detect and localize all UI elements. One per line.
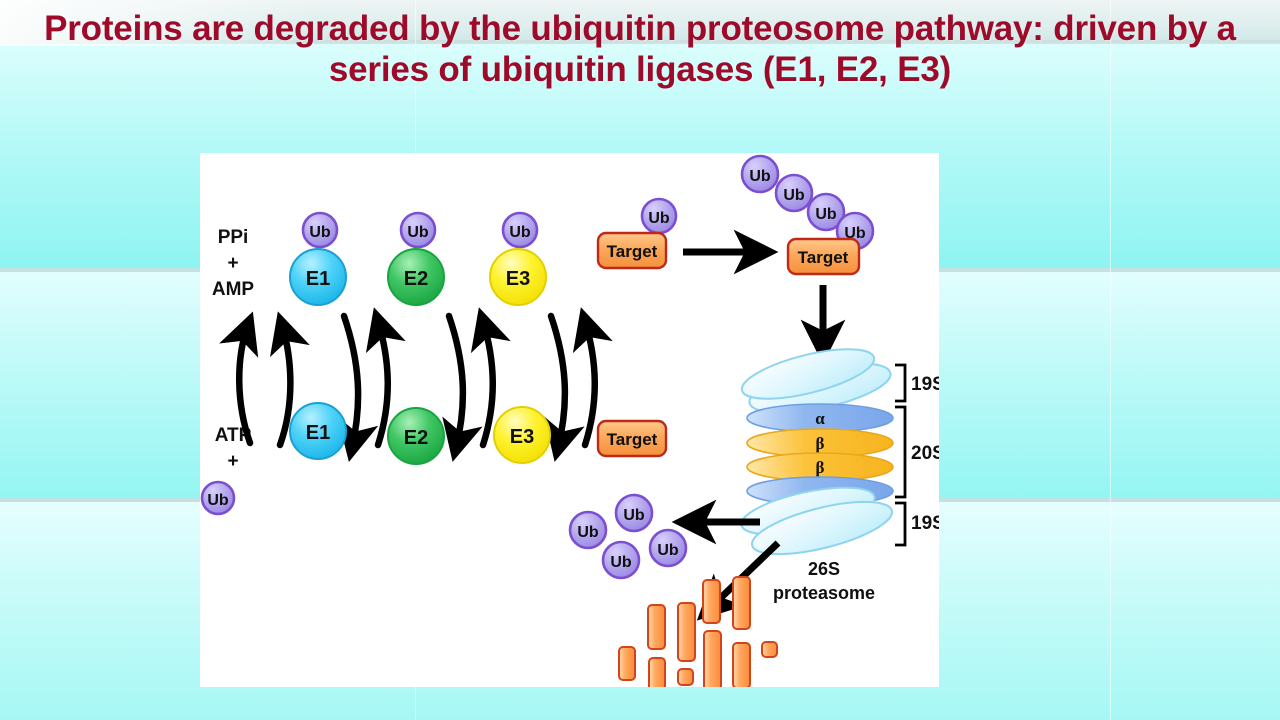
target-polyub: Ub Ub Ub Ub Target — [742, 156, 873, 274]
peptide-4 — [678, 603, 695, 661]
background-vline-right — [1110, 0, 1111, 720]
peptide-fragments — [619, 577, 777, 687]
label-released-ub-4: Ub — [657, 542, 679, 559]
released-ubiquitin-pool: Ub Ub Ub Ub — [570, 495, 686, 578]
enzyme-e3-top: Ub E3 — [490, 213, 546, 305]
arrow-down-3 — [551, 316, 565, 448]
proteasome-26s: α β β α — [737, 339, 896, 565]
label-polyub-2: Ub — [783, 187, 805, 204]
label-released-ub-1: Ub — [577, 524, 599, 541]
subunit-brackets — [895, 365, 905, 545]
enzyme-e3-bottom: E3 — [494, 407, 550, 463]
label-e2-bottom: E2 — [404, 427, 428, 449]
label-proteasome: proteasome — [773, 583, 875, 603]
label-target-polyub: Target — [798, 248, 849, 267]
peptide-7 — [704, 631, 721, 687]
slide-canvas: Proteins are degraded by the ubiquitin p… — [0, 0, 1280, 720]
arrow-down-2 — [449, 316, 463, 448]
target-free: Target — [598, 421, 666, 456]
peptide-6 — [703, 580, 720, 623]
label-19s-bottom: 19S — [911, 513, 939, 534]
arrow-up-3 — [585, 321, 595, 445]
peptide-5 — [678, 669, 693, 685]
arrow-up-1 — [378, 321, 388, 445]
peptide-10 — [762, 642, 777, 657]
label-released-ub-2: Ub — [623, 507, 645, 524]
label-polyub-1: Ub — [749, 168, 771, 185]
label-ring-beta-lower: β — [816, 458, 825, 477]
label-e2-top: E2 — [404, 268, 428, 290]
label-20s: 20S — [911, 443, 939, 464]
peptide-2 — [648, 605, 665, 649]
label-e3-top: E3 — [506, 268, 530, 290]
subunit-labels: 19S 20S 19S — [911, 374, 939, 534]
label-e3-bottom: E3 — [510, 426, 534, 448]
enzyme-e1-bottom: E1 — [290, 403, 346, 459]
label-ppi: PPi — [218, 227, 249, 248]
label-target-top: Target — [607, 242, 658, 261]
label-26s: 26S — [808, 559, 840, 579]
enzyme-e1-top: Ub E1 — [290, 213, 346, 305]
page-title: Proteins are degraded by the ubiquitin p… — [40, 8, 1240, 90]
proteasome-caption: 26S proteasome — [773, 559, 875, 603]
label-ring-beta-upper: β — [816, 434, 825, 453]
peptide-8 — [733, 577, 750, 629]
label-e1-bottom: E1 — [306, 422, 330, 444]
label-ub-e3-top: Ub — [509, 224, 531, 241]
label-19s-top: 19S — [911, 374, 939, 395]
label-plus-top: + — [227, 253, 238, 274]
label-ub-e1-top: Ub — [309, 224, 331, 241]
label-free-ub: Ub — [207, 492, 229, 509]
label-target-bottom: Target — [607, 430, 658, 449]
label-e1-top: E1 — [306, 268, 330, 290]
label-released-ub-3: Ub — [610, 554, 632, 571]
arrow-up-2 — [483, 321, 493, 445]
label-polyub-3: Ub — [815, 206, 837, 223]
peptide-3 — [649, 658, 665, 687]
enzyme-e2-top: Ub E2 — [388, 213, 444, 305]
label-ring-alpha-top: α — [815, 409, 825, 428]
target-monoub: Ub Target — [598, 199, 676, 268]
free-ubiquitin: Ub — [202, 482, 234, 514]
pathway-diagram: PPi + AMP ATP + Ub — [200, 153, 939, 687]
diagram-panel: PPi + AMP ATP + Ub — [200, 153, 939, 687]
label-plus-bottom: + — [227, 451, 238, 472]
polyubiquitin-chain: Ub Ub Ub Ub — [742, 156, 873, 249]
enzyme-e2-bottom: E2 — [388, 408, 444, 464]
peptide-9 — [733, 643, 750, 687]
label-ub-target-top: Ub — [648, 210, 670, 227]
peptide-1 — [619, 647, 635, 680]
label-amp: AMP — [212, 279, 255, 300]
arrow-up-left-inner — [280, 325, 290, 445]
label-ub-e2-top: Ub — [407, 224, 429, 241]
